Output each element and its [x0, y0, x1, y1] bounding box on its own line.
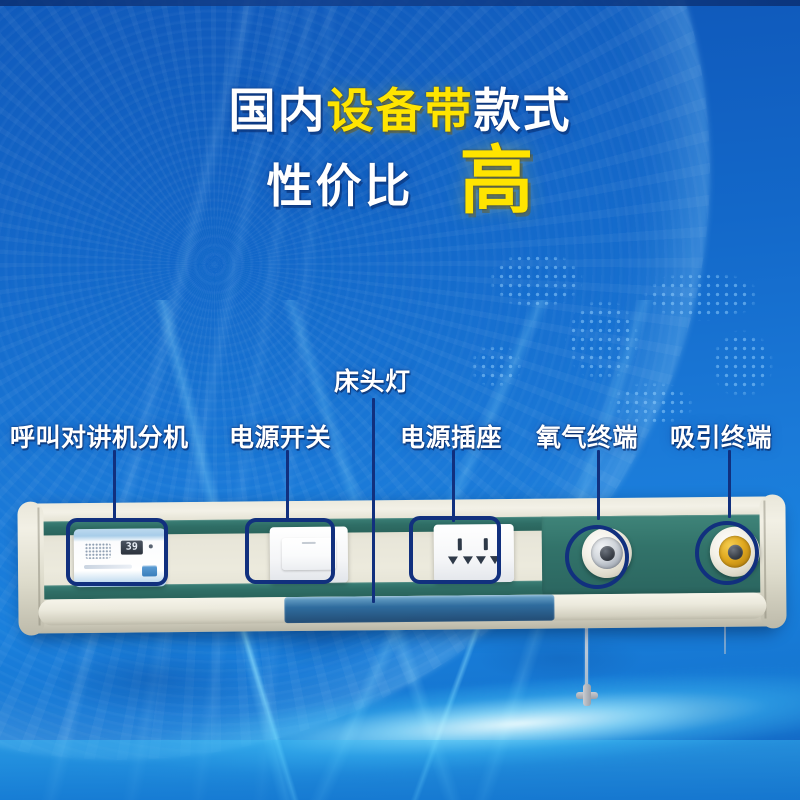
- callout-label-bed-lamp: 床头灯: [334, 362, 411, 398]
- promo-banner: 国内设备带款式 性价比 高 呼叫对讲机分机 电源开关 床头灯 电源插座 氧气终端…: [0, 0, 800, 800]
- callout-label-switch: 电源开关: [229, 418, 331, 454]
- highlight-box-socket: [409, 516, 501, 584]
- callout-label-oxygen: 氧气终端: [536, 418, 638, 454]
- callout-label-socket: 电源插座: [400, 418, 502, 454]
- highlight-circle-oxygen: [565, 525, 629, 589]
- highlight-box-intercom: [66, 518, 168, 586]
- callout-label-intercom: 呼叫对讲机分机: [10, 418, 189, 454]
- highlight-box-switch: [245, 518, 335, 584]
- callout-labels: 呼叫对讲机分机 电源开关 床头灯 电源插座 氧气终端 吸引终端: [0, 0, 800, 800]
- callout-label-suction: 吸引终端: [670, 418, 772, 454]
- highlight-circle-suction: [695, 521, 759, 585]
